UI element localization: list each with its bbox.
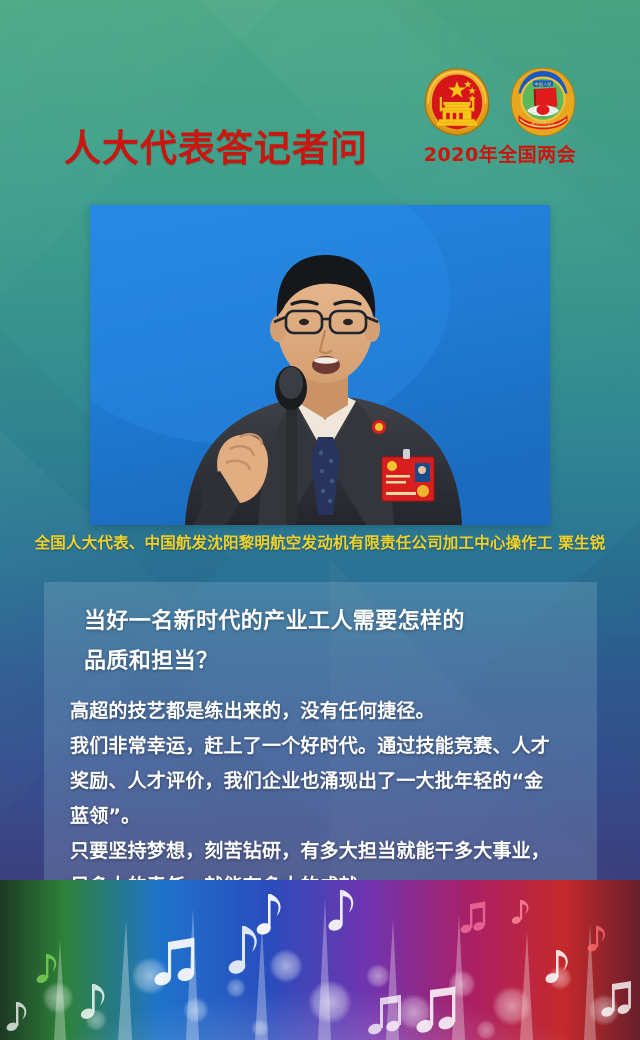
poster-header: 人大代表答记者问 xyxy=(0,0,640,200)
representative-photo xyxy=(90,205,550,525)
qa-content-card: 当好一名新时代的产业工人需要怎样的 品质和担当？ 高超的技艺都是练出来的，没有任… xyxy=(44,582,597,930)
national-emblem-of-china-icon xyxy=(421,64,493,140)
music-notes-footer xyxy=(0,880,640,1040)
svg-text:政治协商会议: 政治协商会议 xyxy=(531,121,555,126)
answer-line: 奖励、人才评价，我们企业也涌现出了一大批年轻的“金 xyxy=(70,764,575,799)
answer-line: 蓝领”。 xyxy=(70,799,575,834)
emblem-group: 中国人民 政治协商会议 xyxy=(415,62,585,142)
answer-line: 只要坚持梦想，刻苦钻研，有多大担当就能干多大事业， xyxy=(70,834,575,869)
page-title: 人大代表答记者问 xyxy=(64,118,368,172)
answer-line: 我们非常幸运，赶上了一个好时代。通过技能竞赛、人才 xyxy=(70,729,575,764)
poster-root: 人大代表答记者问 xyxy=(0,0,640,1040)
answer-line: 高超的技艺都是练出来的，没有任何捷径。 xyxy=(70,694,575,729)
photo-caption: 全国人大代表、中国航发沈阳黎明航空发动机有限责任公司加工中心操作工 栗生锐 xyxy=(0,531,640,553)
answer-block: 高超的技艺都是练出来的，没有任何捷径。 我们非常幸运，赶上了一个好时代。通过技能… xyxy=(70,694,575,904)
question-block: 当好一名新时代的产业工人需要怎样的 品质和担当？ xyxy=(70,602,575,682)
cppcc-emblem-icon: 中国人民 政治协商会议 xyxy=(507,64,579,140)
representative-photo-illustration xyxy=(90,205,550,525)
subtitle-year-label: 2020年全国两会 xyxy=(415,140,585,167)
question-line: 品质和担当？ xyxy=(84,642,575,682)
question-line: 当好一名新时代的产业工人需要怎样的 xyxy=(84,602,575,642)
music-notes-decoration-icon xyxy=(0,880,640,1040)
